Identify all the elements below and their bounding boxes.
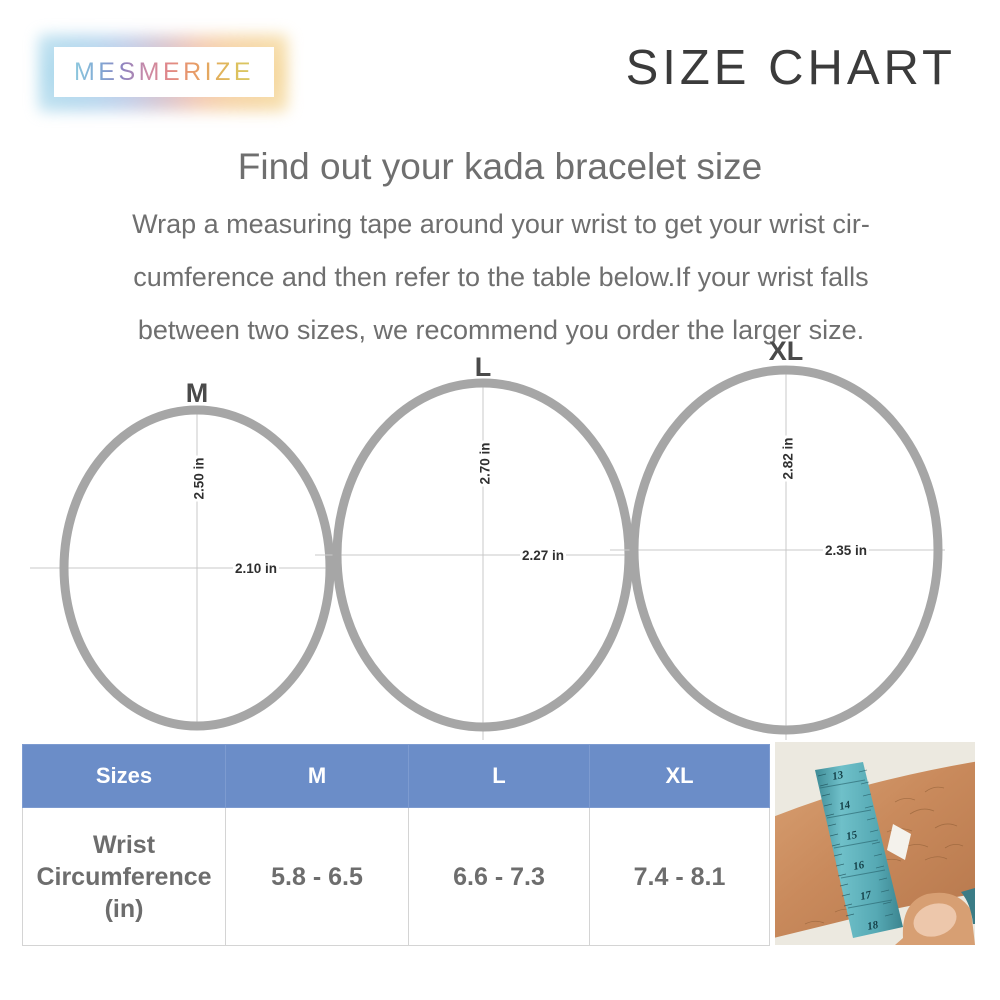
row-label-line-3: (in) <box>105 895 144 923</box>
logo-text: MESMERIZE <box>74 58 254 87</box>
row-label-line-2: Circumference <box>36 863 211 891</box>
oval-width-l: 2.27 in <box>520 547 566 564</box>
row-label-wrist-circumference: Wrist Circumference (in) <box>23 808 226 946</box>
cell-range-xl: 7.4 - 8.1 <box>590 808 770 946</box>
oval-height-l: 2.70 in <box>477 440 494 486</box>
size-diagrams: M 2.50 in 2.10 in L 2.70 in 2.27 in XL 2… <box>0 340 1000 740</box>
row-label-line-1: Wrist <box>93 831 155 859</box>
brand-logo: MESMERIZE <box>38 34 288 112</box>
page-title: SIZE CHART <box>626 40 956 96</box>
header-cell-m: M <box>226 745 409 808</box>
oval-diagram-svg <box>0 340 1000 740</box>
header-cell-l: L <box>409 745 590 808</box>
table-row: Wrist Circumference (in) 5.8 - 6.5 6.6 -… <box>23 808 770 946</box>
intro-line-1: Wrap a measuring tape around your wrist … <box>48 198 954 251</box>
table-header-row: Sizes M L XL <box>23 745 770 808</box>
wrist-measuring-tape-photo: 13 14 15 16 17 18 <box>775 742 975 945</box>
oval-width-m: 2.10 in <box>233 560 279 577</box>
oval-width-xl: 2.35 in <box>823 542 869 559</box>
logo-box: MESMERIZE <box>54 47 274 97</box>
cell-range-m: 5.8 - 6.5 <box>226 808 409 946</box>
size-table: Sizes M L XL Wrist Circumference (in) 5.… <box>22 744 770 946</box>
header-cell-sizes: Sizes <box>23 745 226 808</box>
intro-paragraph: Wrap a measuring tape around your wrist … <box>48 198 954 357</box>
oval-height-xl: 2.82 in <box>780 435 797 481</box>
oval-label-xl: XL <box>769 336 804 367</box>
photo-illustration: 13 14 15 16 17 18 <box>775 742 975 945</box>
cell-range-l: 6.6 - 7.3 <box>409 808 590 946</box>
headline: Find out your kada bracelet size <box>0 146 1000 188</box>
intro-line-2: cumference and then refer to the table b… <box>48 251 954 304</box>
header-cell-xl: XL <box>590 745 770 808</box>
oval-height-m: 2.50 in <box>191 455 208 501</box>
oval-label-l: L <box>475 352 492 383</box>
